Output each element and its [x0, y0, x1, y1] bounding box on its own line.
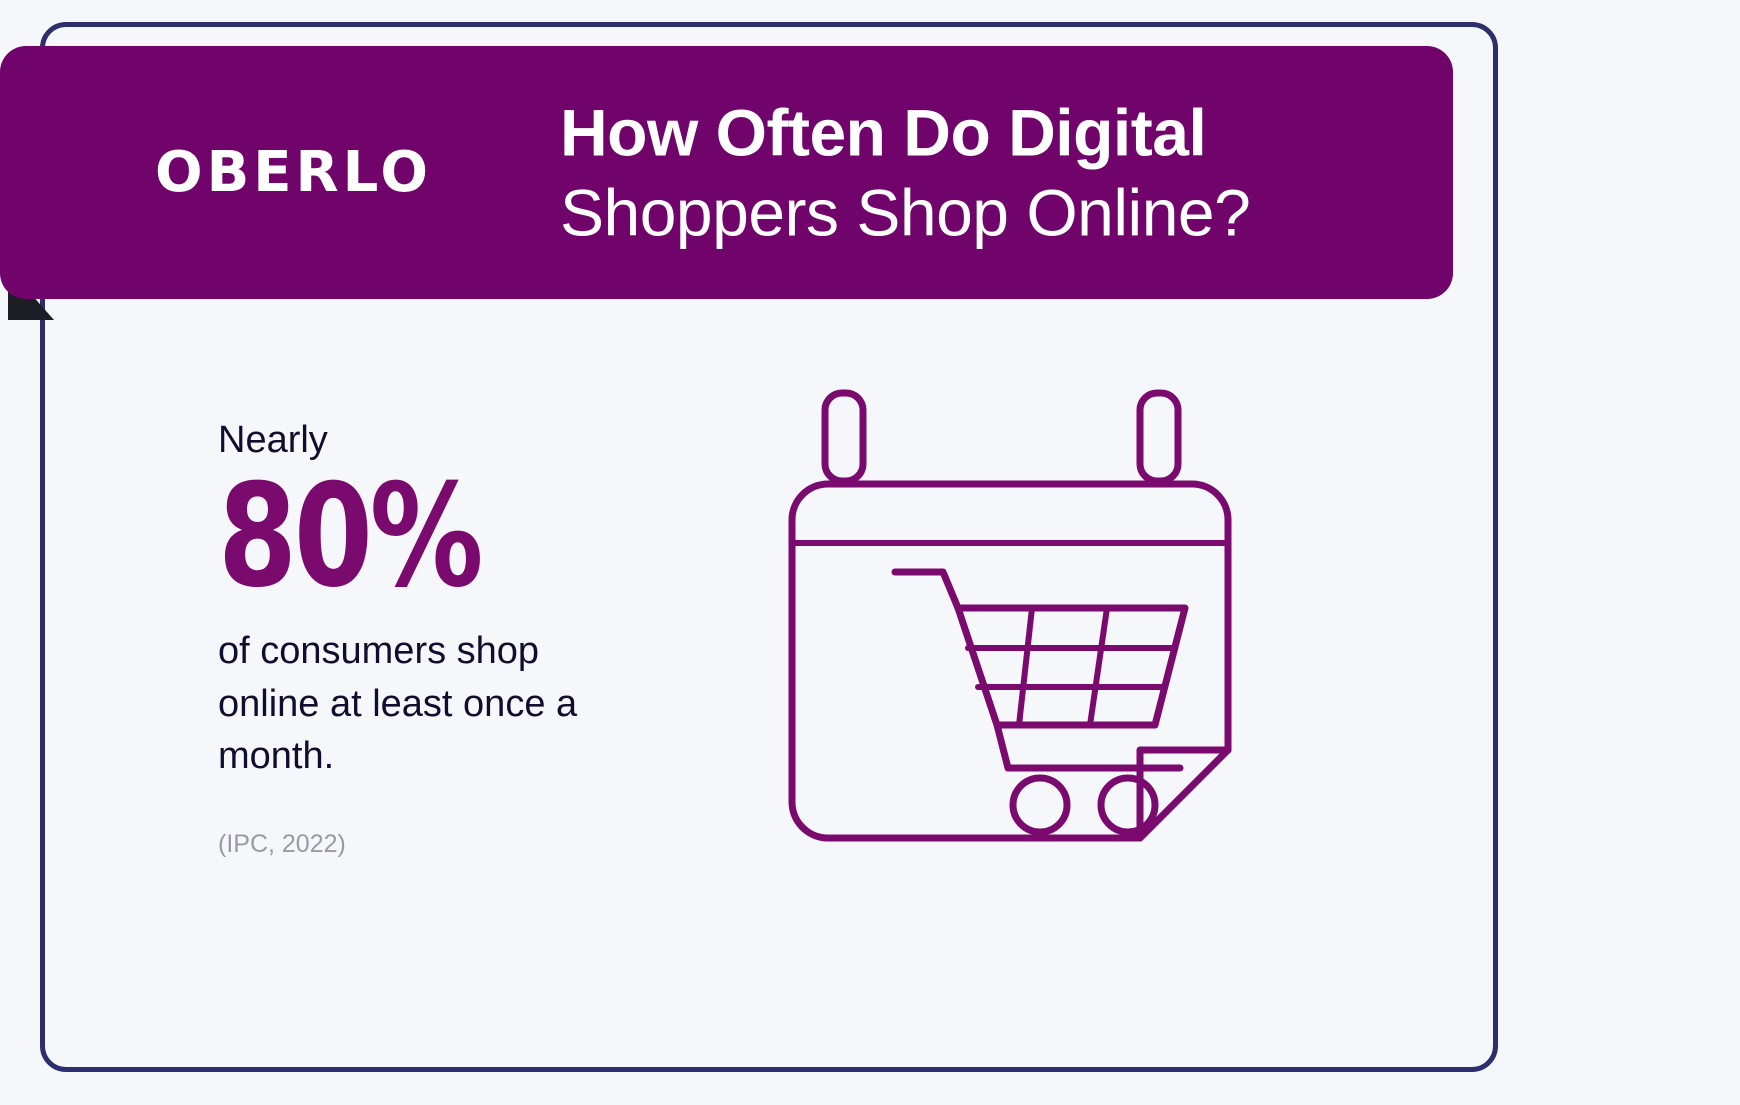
oberlo-logo: OBERLO [155, 145, 432, 201]
oberlo-logo-text: OBERLO [155, 145, 432, 201]
page-title-line-1: How Often Do Digital [560, 92, 1390, 173]
statistic-block: Nearly 80% of consumers shop online at l… [218, 418, 638, 859]
calendar-shopping-cart-illustration [740, 380, 1280, 880]
page-title-line-2: Shoppers Shop Online? [560, 173, 1390, 254]
statistic-description: of consumers shop online at least once a… [218, 625, 598, 782]
calendar-body-icon [792, 484, 1228, 838]
header-banner: OBERLO How Often Do Digital Shoppers Sho… [0, 46, 1453, 299]
cart-wheel-left-icon [1013, 778, 1067, 832]
infographic-root: OBERLO How Often Do Digital Shoppers Sho… [0, 0, 1740, 1105]
calendar-ring-left-icon [825, 393, 863, 481]
shopping-cart-icon [895, 572, 1185, 768]
statistic-value: 80% [218, 470, 554, 603]
statistic-source-citation: (IPC, 2022) [218, 830, 638, 859]
cart-wheel-right-icon [1101, 778, 1155, 832]
page-title: How Often Do Digital Shoppers Shop Onlin… [560, 92, 1390, 253]
calendar-ring-right-icon [1140, 393, 1178, 481]
